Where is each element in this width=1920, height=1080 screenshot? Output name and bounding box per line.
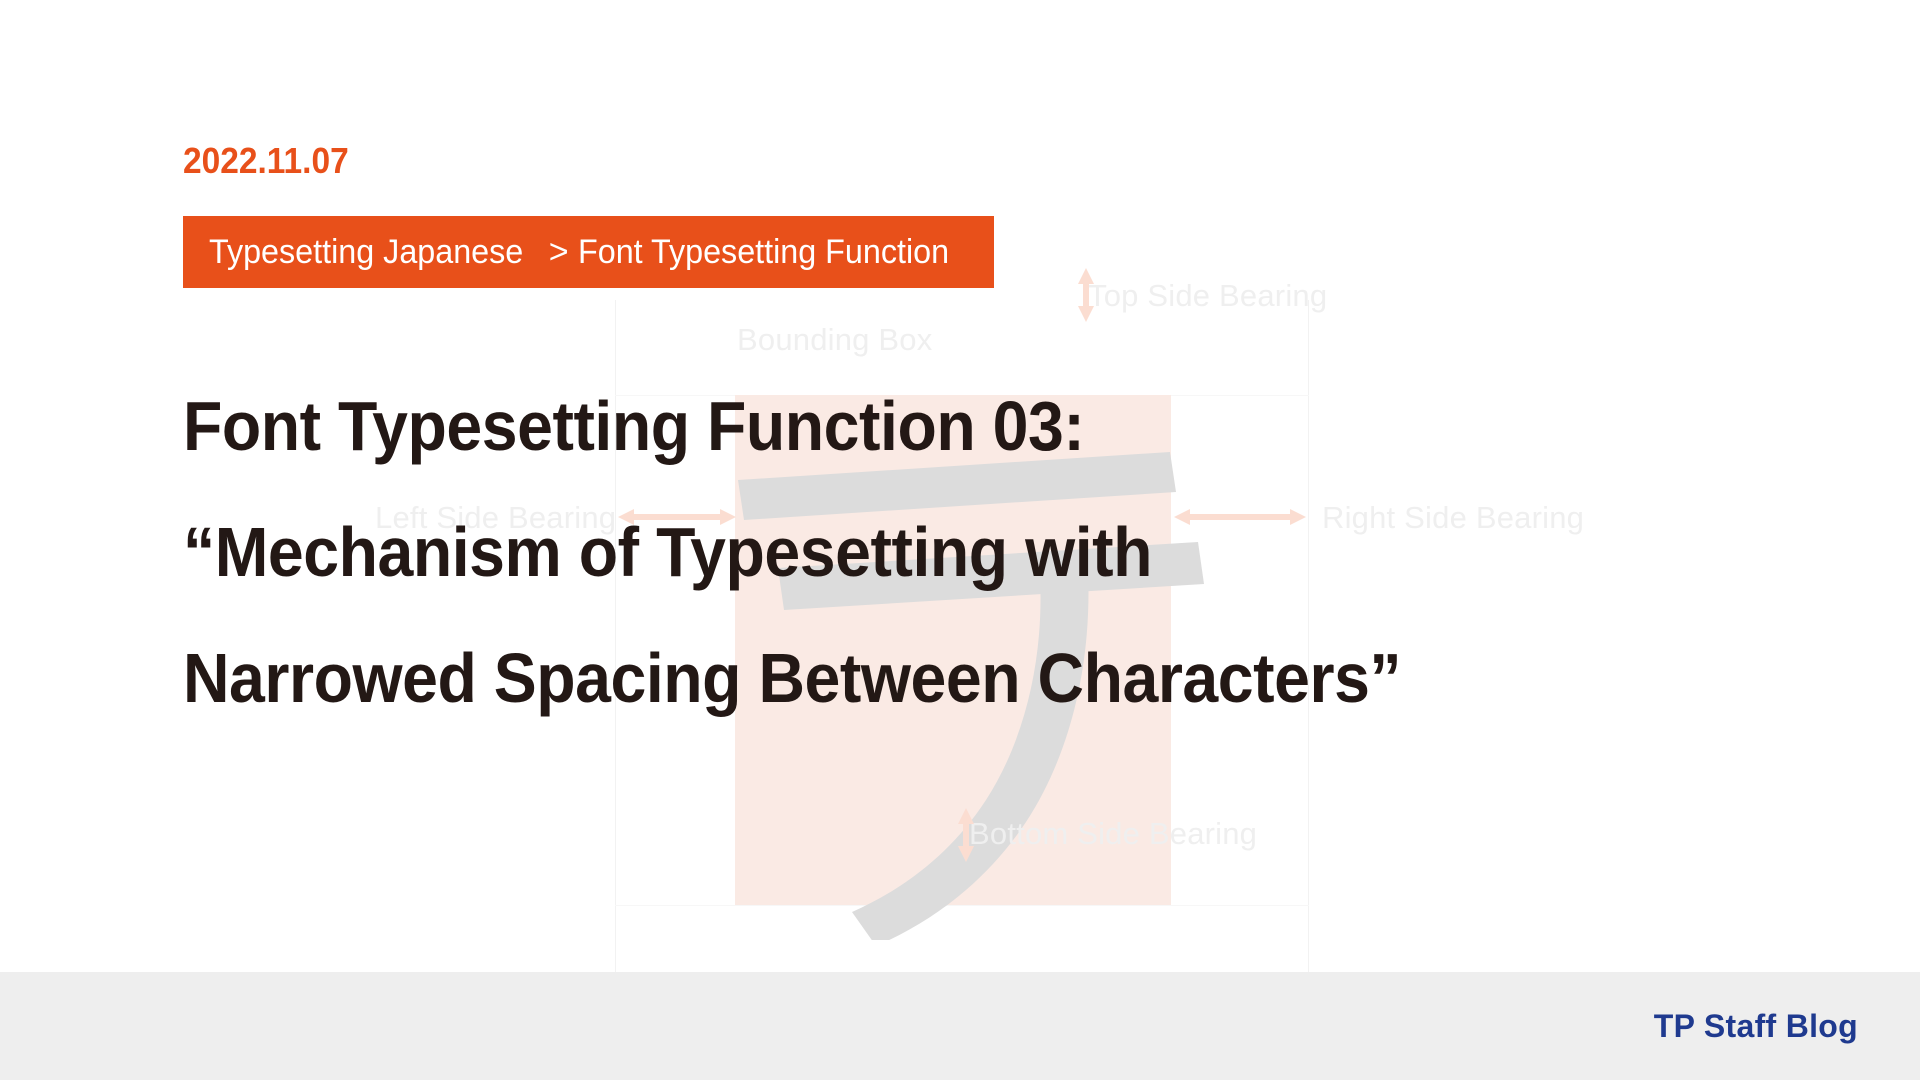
slide-canvas: Top Side Bearing Bounding Box Left Side …: [0, 0, 1920, 1080]
page-title-line-1: Font Typesetting Function 03:: [183, 363, 1471, 489]
breadcrumb[interactable]: Typesetting Japanese > Font Typesetting …: [183, 216, 994, 288]
footer-bar: [0, 972, 1920, 1080]
page-title: Font Typesetting Function 03: “Mechanism…: [183, 363, 1583, 741]
chevron-right-icon: >: [549, 233, 569, 272]
page-title-line-3: Narrowed Spacing Between Characters”: [183, 615, 1471, 741]
page-title-line-2: “Mechanism of Typesetting with: [183, 489, 1471, 615]
post-date: 2022.11.07: [183, 140, 349, 182]
slide-content: 2022.11.07 Typesetting Japanese > Font T…: [0, 0, 1920, 1080]
footer-brand-label: TP Staff Blog: [1654, 1008, 1858, 1045]
breadcrumb-item-parent[interactable]: Typesetting Japanese: [209, 233, 523, 272]
breadcrumb-item-current[interactable]: Font Typesetting Function: [578, 233, 949, 272]
